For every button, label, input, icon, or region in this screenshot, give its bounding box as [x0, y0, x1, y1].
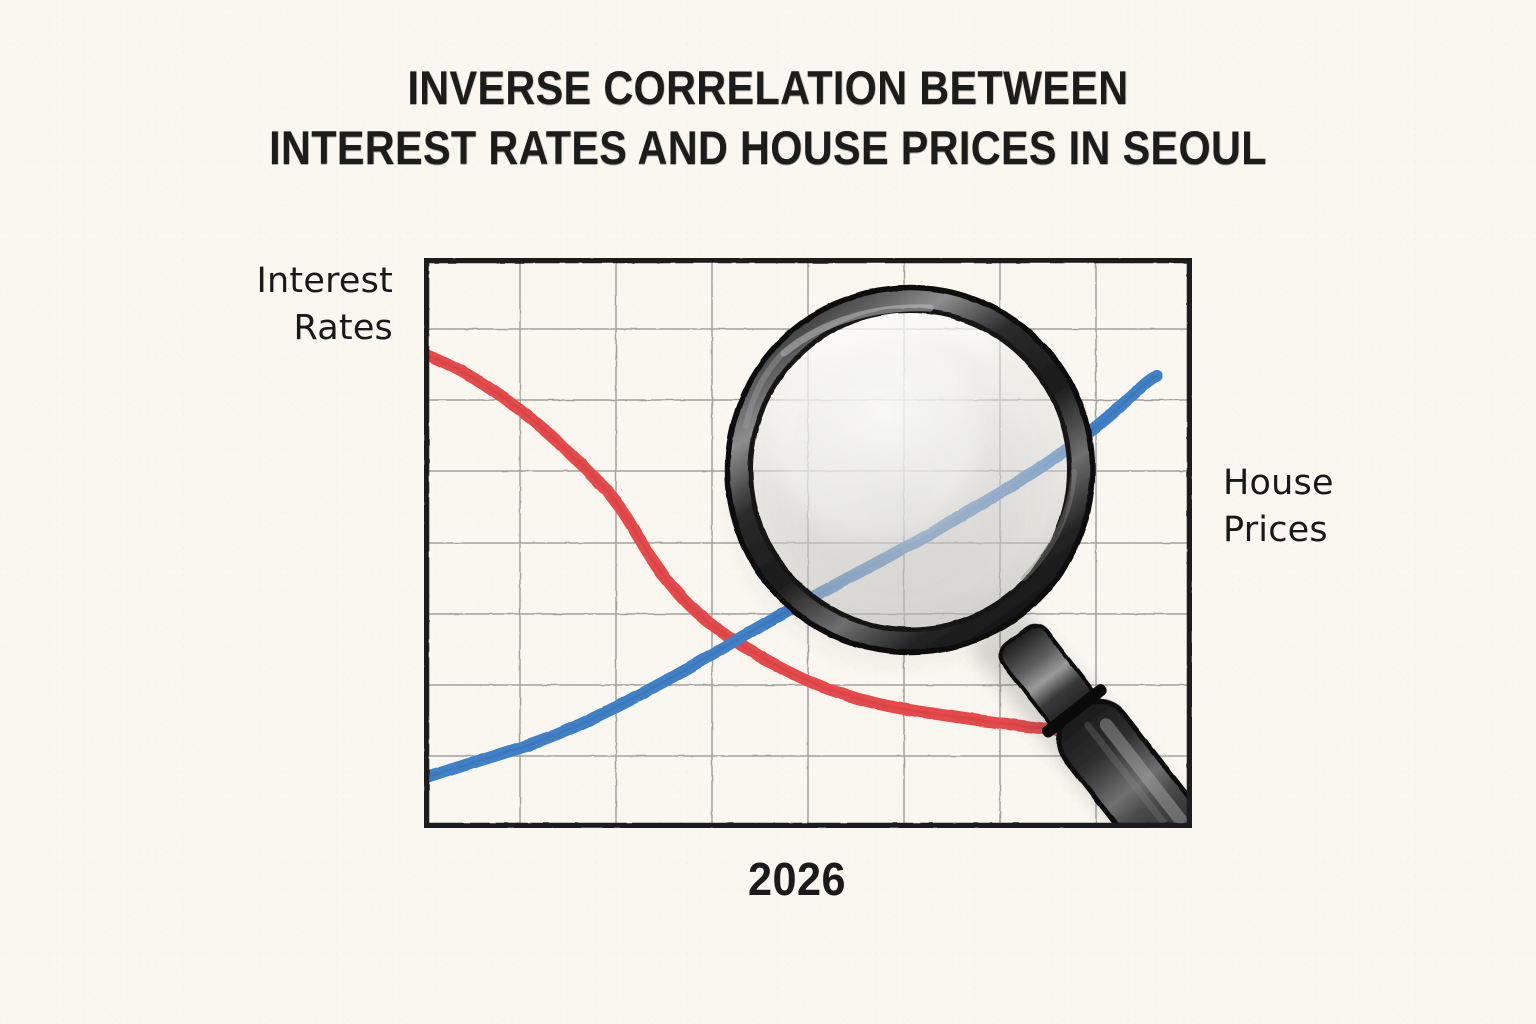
series-label-house-prices-line-2: Prices — [1223, 507, 1473, 554]
series-label-interest-rates: Interest Rates — [153, 258, 393, 351]
series-label-interest-rates-line-2: Rates — [153, 305, 393, 352]
x-axis-label-year: 2026 — [703, 852, 891, 906]
illustration-canvas: Inverse Correlation Between Interest Rat… — [0, 0, 1536, 1024]
magnifying-glass-icon — [728, 288, 1193, 829]
page-title-line-2: Interest Rates and House Prices in Seoul — [92, 118, 1444, 178]
chart-plot-area — [424, 258, 1192, 828]
series-label-interest-rates-line-1: Interest — [153, 258, 393, 305]
page-title: Inverse Correlation Between Interest Rat… — [92, 58, 1444, 178]
chart-svg — [424, 258, 1192, 828]
series-label-house-prices: House Prices — [1223, 460, 1473, 553]
series-label-house-prices-line-1: House — [1223, 460, 1473, 507]
page-title-line-1: Inverse Correlation Between — [92, 58, 1444, 118]
